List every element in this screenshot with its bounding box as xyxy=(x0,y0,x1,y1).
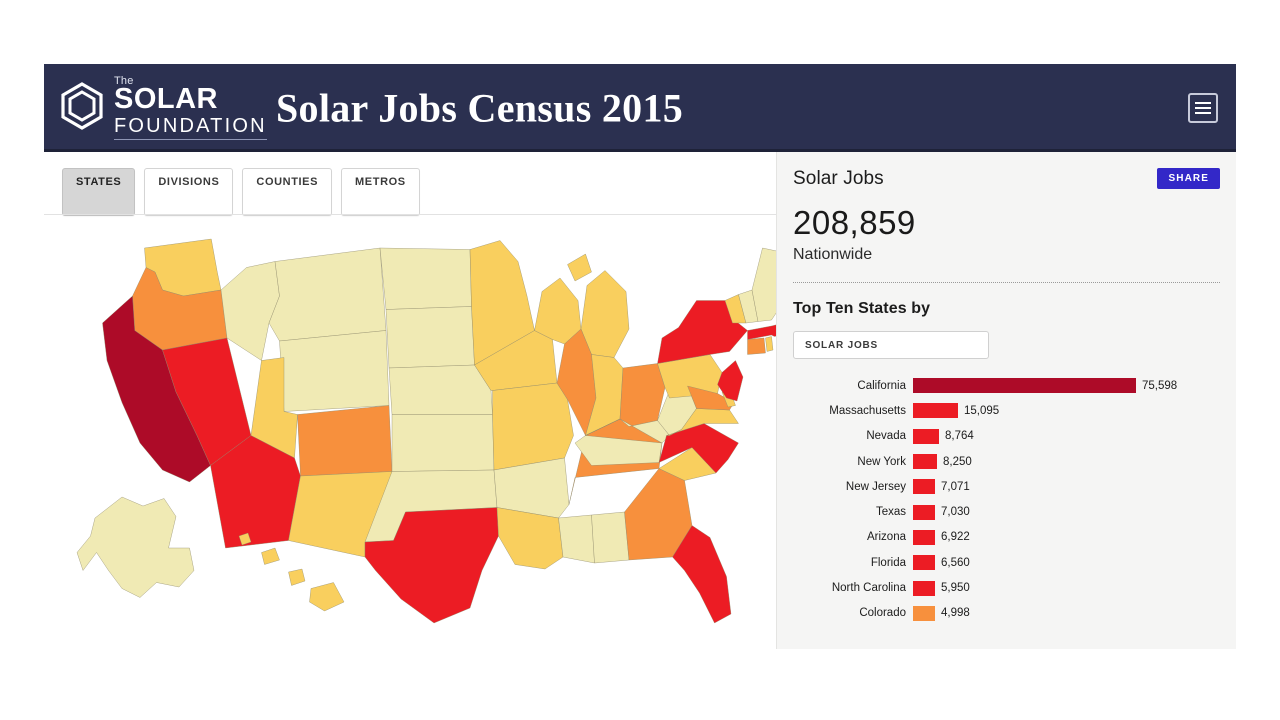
bar-track: 75,598 xyxy=(913,378,1220,393)
state-MS xyxy=(559,515,595,563)
bar-row[interactable]: Texas7,030 xyxy=(793,499,1220,524)
bar-fill xyxy=(913,403,958,418)
bar-label: Nevada xyxy=(793,430,913,442)
bar-label: Texas xyxy=(793,506,913,518)
bar-row[interactable]: Florida6,560 xyxy=(793,550,1220,575)
bar-track: 8,764 xyxy=(913,429,1220,444)
state-RI xyxy=(766,337,774,352)
ranking-title: Top Ten States by xyxy=(793,300,1220,318)
bar-track: 6,560 xyxy=(913,555,1220,570)
geography-tabbar: STATES DIVISIONS COUNTIES METROS xyxy=(44,152,776,216)
bar-track: 6,922 xyxy=(913,530,1220,545)
bar-label: New York xyxy=(793,456,913,468)
map-states xyxy=(77,239,776,623)
state-OH xyxy=(620,364,665,427)
bar-value: 4,998 xyxy=(935,607,970,619)
state-KS xyxy=(392,415,494,472)
brand-logo[interactable]: The SOLAR FOUNDATION xyxy=(56,73,267,143)
bar-track: 7,030 xyxy=(913,505,1220,520)
bar-value: 7,071 xyxy=(935,481,970,493)
bar-row[interactable]: North Carolina5,950 xyxy=(793,575,1220,600)
bar-fill xyxy=(913,479,935,494)
state-AK xyxy=(77,497,194,598)
bar-fill xyxy=(913,429,939,444)
state-MO xyxy=(493,383,574,470)
state-AL xyxy=(592,512,630,563)
logo-solar-text: SOLAR xyxy=(114,85,267,114)
page-title: Solar Jobs Census 2015 xyxy=(276,85,683,132)
metric-select[interactable]: SOLAR JOBS xyxy=(793,331,989,359)
bar-value: 6,560 xyxy=(935,557,970,569)
state-MT xyxy=(269,248,386,341)
bar-row[interactable]: Massachusetts15,095 xyxy=(793,398,1220,423)
bar-row[interactable]: New York8,250 xyxy=(793,449,1220,474)
bar-value: 15,095 xyxy=(958,405,999,417)
panel-header: Solar Jobs SHARE xyxy=(793,168,1220,190)
total-jobs-value: 208,859 xyxy=(793,206,1220,239)
state-ND xyxy=(380,248,472,310)
tab-divisions[interactable]: DIVISIONS xyxy=(144,168,233,216)
state-CO xyxy=(298,406,393,477)
bar-track: 7,071 xyxy=(913,479,1220,494)
bar-fill xyxy=(913,505,935,520)
state-MA xyxy=(748,322,777,340)
hexagon-logo-icon xyxy=(56,80,108,137)
app-header: The SOLAR FOUNDATION Solar Jobs Census 2… xyxy=(44,64,1236,152)
bar-value: 6,922 xyxy=(935,531,970,543)
bar-fill xyxy=(913,606,935,621)
bar-label: North Carolina xyxy=(793,582,913,594)
bar-label: Colorado xyxy=(793,607,913,619)
bar-fill xyxy=(913,581,935,596)
bar-row[interactable]: Arizona6,922 xyxy=(793,525,1220,550)
bar-value: 75,598 xyxy=(1136,380,1177,392)
metric-select-value: SOLAR JOBS xyxy=(805,340,878,351)
bar-label: Arizona xyxy=(793,531,913,543)
bar-label: California xyxy=(793,380,913,392)
state-CT xyxy=(748,338,766,355)
tab-metros[interactable]: METROS xyxy=(341,168,420,216)
bar-value: 8,764 xyxy=(939,430,974,442)
state-SD xyxy=(386,307,475,369)
bar-fill xyxy=(913,530,935,545)
bar-track: 15,095 xyxy=(913,403,1220,418)
state-WI xyxy=(535,278,582,344)
bar-label: New Jersey xyxy=(793,481,913,493)
tab-states[interactable]: STATES xyxy=(62,168,135,216)
bar-value: 7,030 xyxy=(935,506,970,518)
bar-fill xyxy=(913,454,937,469)
bar-label: Florida xyxy=(793,557,913,569)
bar-label: Massachusetts xyxy=(793,405,913,417)
bar-value: 8,250 xyxy=(937,456,972,468)
stats-side-panel: Solar Jobs SHARE 208,859 Nationwide Top … xyxy=(776,152,1236,649)
choropleth-map[interactable] xyxy=(44,218,776,638)
panel-divider xyxy=(793,282,1220,283)
state-NE xyxy=(389,365,493,415)
bar-row[interactable]: Nevada8,764 xyxy=(793,424,1220,449)
logo-foundation-text: FOUNDATION xyxy=(114,116,267,140)
bar-value: 5,950 xyxy=(935,582,970,594)
panel-title: Solar Jobs xyxy=(793,168,884,190)
app-body: STATES DIVISIONS COUNTIES METROS xyxy=(44,152,1236,649)
tab-counties[interactable]: COUNTIES xyxy=(242,168,332,216)
map-pane: STATES DIVISIONS COUNTIES METROS xyxy=(44,152,776,649)
state-NJ xyxy=(718,361,744,402)
top-states-bar-chart: California75,598Massachusetts15,095Nevad… xyxy=(793,373,1220,626)
bar-row[interactable]: New Jersey7,071 xyxy=(793,474,1220,499)
bar-row[interactable]: Colorado4,998 xyxy=(793,601,1220,626)
bar-track: 4,998 xyxy=(913,606,1220,621)
app-container: The SOLAR FOUNDATION Solar Jobs Census 2… xyxy=(44,64,1236,649)
total-jobs-scope: Nationwide xyxy=(793,246,1220,264)
bar-fill xyxy=(913,378,1136,393)
bar-fill xyxy=(913,555,935,570)
hamburger-menu-icon[interactable] xyxy=(1188,93,1218,123)
bar-track: 5,950 xyxy=(913,581,1220,596)
bar-track: 8,250 xyxy=(913,454,1220,469)
state-ID xyxy=(221,262,280,361)
state-WY xyxy=(280,331,390,412)
bar-row[interactable]: California75,598 xyxy=(793,373,1220,398)
share-button[interactable]: SHARE xyxy=(1157,168,1220,189)
tabbar-divider xyxy=(44,214,776,215)
